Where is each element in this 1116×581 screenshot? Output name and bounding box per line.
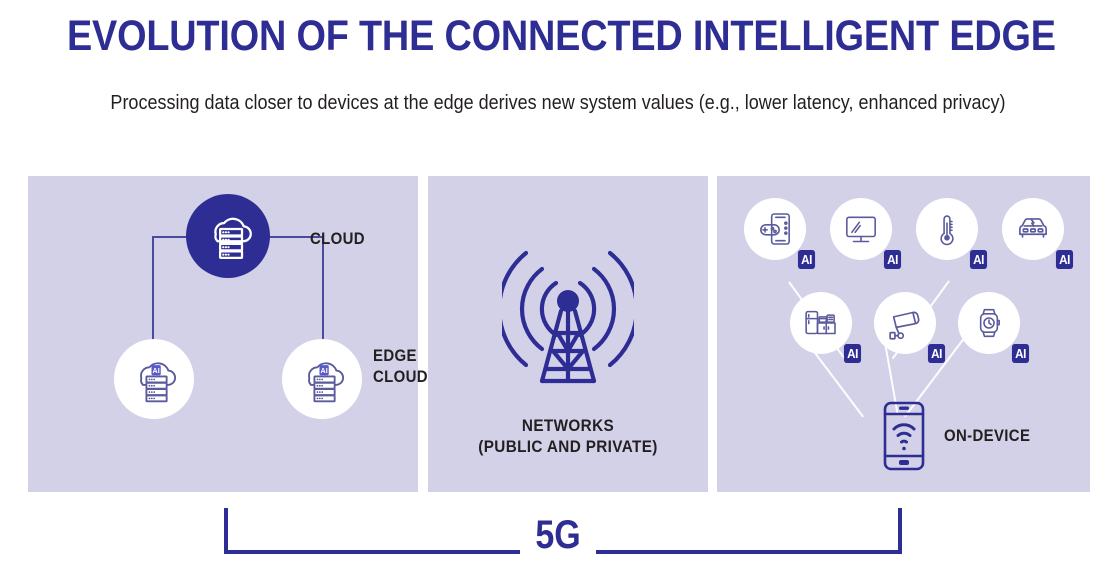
on-device-panel: AI AI AI	[717, 176, 1090, 492]
device-node-smartwatch[interactable]	[958, 292, 1020, 354]
device-node-monitor[interactable]	[830, 198, 892, 260]
smartwatch-icon	[969, 303, 1009, 343]
security-camera-icon	[884, 302, 926, 344]
device-node-mobile-gaming[interactable]	[744, 198, 806, 260]
cloud-node[interactable]	[186, 194, 270, 278]
ai-badge: AI	[928, 344, 945, 363]
ai-badge: AI	[798, 250, 815, 269]
connector-line-left-vertical	[152, 236, 154, 346]
edge-cloud-node-right[interactable]: AI	[282, 339, 362, 419]
car-icon	[1012, 208, 1054, 250]
on-device-panel-label: ON-DEVICE	[944, 425, 1030, 446]
ai-badge: AI	[970, 250, 987, 269]
cloud-node-label: CLOUD	[310, 228, 365, 249]
monitor-icon	[841, 209, 881, 249]
ai-badge: AI	[1056, 250, 1073, 269]
edge-cloud-node-left[interactable]: AI	[114, 339, 194, 419]
cell-tower-icon	[502, 241, 634, 391]
ai-badge: AI	[884, 250, 901, 269]
svg-text:AI: AI	[321, 367, 328, 375]
device-node-car[interactable]	[1002, 198, 1064, 260]
page-title: EVOLUTION OF THE CONNECTED INTELLIGENT E…	[67, 12, 1049, 61]
edge-cloud-node-label: EDGE CLOUD	[373, 345, 428, 387]
mobile-gaming-icon	[755, 209, 795, 249]
device-node-security-camera[interactable]	[874, 292, 936, 354]
bracket-label: 5G	[84, 513, 1033, 558]
cloud-server-icon	[200, 208, 256, 264]
svg-text:AI: AI	[153, 367, 160, 375]
device-node-home-appliances[interactable]	[790, 292, 852, 354]
connector-line-right-vertical	[322, 236, 324, 346]
page-subtitle: Processing data closer to devices at the…	[56, 92, 1060, 115]
ai-badge: AI	[844, 344, 861, 363]
cloud-panel: CLOUD AI	[28, 176, 418, 492]
thermometer-icon	[927, 209, 967, 249]
device-node-thermometer[interactable]	[916, 198, 978, 260]
home-appliances-icon	[800, 302, 842, 344]
edge-cloud-ai-server-icon: AI	[127, 352, 181, 406]
edge-cloud-ai-server-icon: AI	[295, 352, 349, 406]
smartphone-wifi-icon[interactable]	[881, 400, 927, 472]
network-panel-label: NETWORKS (PUBLIC AND PRIVATE)	[442, 415, 694, 457]
ai-badge: AI	[1012, 344, 1029, 363]
